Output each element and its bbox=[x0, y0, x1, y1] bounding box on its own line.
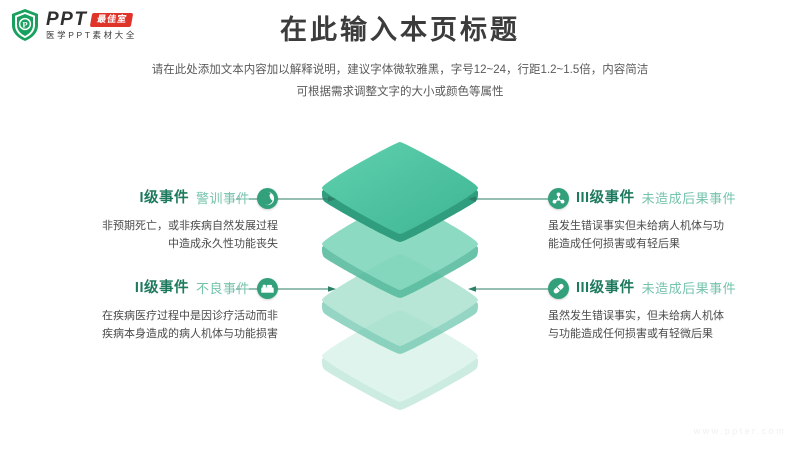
callout-4-desc-line-2: 与功能造成任何损害或有轻微后果 bbox=[548, 326, 798, 344]
callout-level-2[interactable]: II级事件 不良事件 在疾病医疗过程中是因诊疗活动而非 疾病本身造成的病人机体与… bbox=[28, 278, 278, 344]
page-title: 在此输入本页标题 bbox=[0, 14, 800, 46]
callout-3-heading: III级事件 未造成后果事件 bbox=[548, 188, 798, 209]
callout-3-desc-line-2: 能造成任何损害或有轻后果 bbox=[548, 236, 798, 254]
clock-icon bbox=[257, 188, 278, 209]
callout-1-desc-line-1: 非预期死亡，或非疾病自然发展过程 bbox=[28, 218, 278, 236]
callout-2-desc-line-2: 疾病本身造成的病人机体与功能损害 bbox=[28, 326, 278, 344]
callout-3-level: III级事件 bbox=[576, 191, 635, 206]
callout-3-desc-line-1: 虽发生错误事实但未给病人机体与功 bbox=[548, 218, 798, 236]
callout-4-heading: III级事件 未造成后果事件 bbox=[548, 278, 798, 299]
callout-4-level: III级事件 bbox=[576, 281, 635, 296]
callout-1-description: 非预期死亡，或非疾病自然发展过程 中造成永久性功能丧失 bbox=[28, 218, 278, 254]
callout-2-heading: II级事件 不良事件 bbox=[28, 278, 278, 299]
callout-3-kind: 未造成后果事件 bbox=[642, 192, 737, 205]
callout-level-4[interactable]: III级事件 未造成后果事件 虽然发生错误事实，但未给病人机体 与功能造成任何损… bbox=[548, 278, 798, 344]
callout-4-desc-line-1: 虽然发生错误事实，但未给病人机体 bbox=[548, 308, 798, 326]
page-subtitle: 请在此处添加文本内容加以解释说明，建议字体微软雅黑，字号12~24，行距1.2~… bbox=[0, 60, 800, 103]
callout-4-kind: 未造成后果事件 bbox=[642, 282, 737, 295]
hospital-bed-icon bbox=[257, 278, 278, 299]
callout-2-level: II级事件 bbox=[135, 281, 189, 296]
callout-level-1[interactable]: I级事件 警训事件 非预期死亡，或非疾病自然发展过程 中造成永久性功能丧失 bbox=[28, 188, 278, 254]
site-watermark: www.ppter.com bbox=[694, 426, 786, 436]
callout-1-heading: I级事件 警训事件 bbox=[28, 188, 278, 209]
slide-header: 在此输入本页标题 请在此处添加文本内容加以解释说明，建议字体微软雅黑，字号12~… bbox=[0, 14, 800, 103]
callout-1-kind: 警训事件 bbox=[196, 192, 250, 205]
callout-4-description: 虽然发生错误事实，但未给病人机体 与功能造成任何损害或有轻微后果 bbox=[548, 308, 798, 344]
callout-3-description: 虽发生错误事实但未给病人机体与功 能造成任何损害或有轻后果 bbox=[548, 218, 798, 254]
stack-layer-1 bbox=[318, 138, 482, 258]
callout-2-description: 在疾病医疗过程中是因诊疗活动而非 疾病本身造成的病人机体与功能损害 bbox=[28, 308, 278, 344]
pill-icon bbox=[548, 278, 569, 299]
subtitle-line-1: 请在此处添加文本内容加以解释说明，建议字体微软雅黑，字号12~24，行距1.2~… bbox=[0, 60, 800, 81]
callout-2-desc-line-1: 在疾病医疗过程中是因诊疗活动而非 bbox=[28, 308, 278, 326]
subtitle-line-2: 可根据需求调整文字的大小或颜色等属性 bbox=[0, 82, 800, 103]
callout-1-level: I级事件 bbox=[139, 191, 189, 206]
callout-level-3[interactable]: III级事件 未造成后果事件 虽发生错误事实但未给病人机体与功 能造成任何损害或… bbox=[548, 188, 798, 254]
callout-1-desc-line-2: 中造成永久性功能丧失 bbox=[28, 236, 278, 254]
callout-2-kind: 不良事件 bbox=[196, 282, 250, 295]
layered-diamond-stack bbox=[318, 138, 482, 386]
molecule-icon bbox=[548, 188, 569, 209]
